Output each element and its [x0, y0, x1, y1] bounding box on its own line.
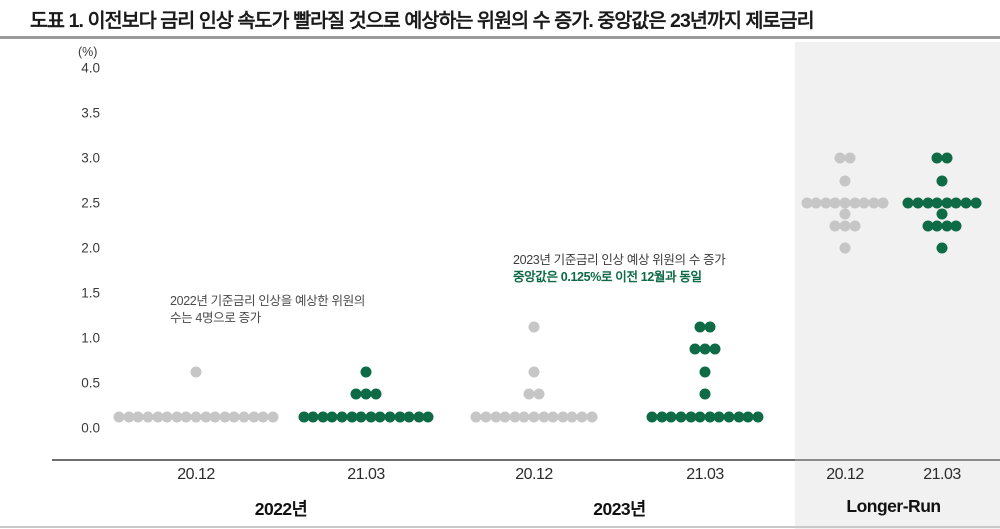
- x-axis-line-inner: [52, 459, 795, 461]
- dot-2023년-20.12-0.375: [533, 389, 544, 400]
- dot-Longer-Run-20.12-2.375: [840, 209, 851, 220]
- dot-Longer-Run-21.03-2: [937, 243, 948, 254]
- dot-Longer-Run-21.03-2.75: [937, 175, 948, 186]
- chart-root: 도표 1. 이전보다 금리 인상 속도가 빨라질 것으로 예상하는 위원의 수 …: [0, 0, 1000, 529]
- dot-2022년-20.12-0.125: [267, 411, 278, 422]
- title-divider: [0, 36, 1000, 39]
- dot-2022년-21.03-0.625: [361, 366, 372, 377]
- dot-Longer-Run-20.12-2.25: [849, 220, 860, 231]
- dot-Longer-Run-21.03-2.25: [951, 220, 962, 231]
- x-axis-group-2022년: 2022년: [255, 496, 308, 521]
- y-axis-tick-0.0: 0.0: [64, 421, 100, 436]
- y-axis-tick-4.0: 4.0: [64, 61, 100, 76]
- dot-2023년-20.12-0.625: [529, 366, 540, 377]
- dot-2023년-21.03-0.875: [709, 344, 720, 355]
- dot-Longer-Run-20.12-2.75: [840, 175, 851, 186]
- x-axis-tick-1-21.03: 21.03: [347, 466, 385, 484]
- x-axis-tick-0-20.12: 20.12: [177, 466, 215, 484]
- y-axis-tick-1.5: 1.5: [64, 286, 100, 301]
- annotation-right-line1: 2023년 기준금리 인상 예상 위원의 수 증가: [513, 252, 725, 269]
- y-axis-tick-2.5: 2.5: [64, 196, 100, 211]
- dot-Longer-Run-21.03-2.375: [937, 209, 948, 220]
- annotation-left-line2: 수는 4명으로 증가: [170, 310, 365, 327]
- y-axis-tick-3.0: 3.0: [64, 151, 100, 166]
- dot-2023년-21.03-0.625: [700, 366, 711, 377]
- annotation-right: 2023년 기준금리 인상 예상 위원의 수 증가 중앙값은 0.125%로 이…: [513, 252, 725, 286]
- y-axis-tick-0.5: 0.5: [64, 376, 100, 391]
- x-axis-group-2023년: 2023년: [593, 496, 646, 521]
- dot-2022년-21.03-0.125: [423, 411, 434, 422]
- annotation-left: 2022년 기준금리 인상을 예상한 위원의 수는 4명으로 증가: [170, 293, 365, 327]
- page-title: 도표 1. 이전보다 금리 인상 속도가 빨라질 것으로 예상하는 위원의 수 …: [30, 4, 990, 33]
- y-axis-unit-label: (%): [78, 45, 97, 59]
- x-axis-tick-3-21.03: 21.03: [686, 466, 724, 484]
- dot-Longer-Run-20.12-2.5: [878, 198, 889, 209]
- dot-Longer-Run-20.12-2: [840, 243, 851, 254]
- dot-2023년-21.03-1.125: [704, 321, 715, 332]
- x-axis-tick-4-20.12: 20.12: [826, 466, 864, 484]
- x-axis-group-Longer-Run: Longer-Run: [846, 496, 940, 517]
- dot-Longer-Run-21.03-2.5: [970, 198, 981, 209]
- x-axis-tick-2-20.12: 20.12: [515, 466, 553, 484]
- dot-2022년-20.12-0.625: [191, 366, 202, 377]
- x-axis-tick-5-21.03: 21.03: [923, 466, 961, 484]
- y-axis-tick-1.0: 1.0: [64, 331, 100, 346]
- dot-2023년-20.12-1.125: [529, 321, 540, 332]
- y-axis-tick-2.0: 2.0: [64, 241, 100, 256]
- dot-2022년-21.03-0.375: [370, 389, 381, 400]
- dot-2023년-20.12-0.125: [586, 411, 597, 422]
- annotation-right-line2: 중앙값은 0.125%로 이전 12월과 동일: [513, 269, 725, 286]
- dot-Longer-Run-20.12-3: [844, 153, 855, 164]
- longer-run-shaded-panel: [795, 42, 1000, 529]
- dot-Longer-Run-21.03-3: [941, 153, 952, 164]
- bottom-divider: [0, 526, 1000, 528]
- annotation-left-line1: 2022년 기준금리 인상을 예상한 위원의: [170, 293, 365, 310]
- dot-2023년-21.03-0.375: [700, 389, 711, 400]
- dot-2023년-21.03-0.125: [752, 411, 763, 422]
- y-axis-tick-3.5: 3.5: [64, 106, 100, 121]
